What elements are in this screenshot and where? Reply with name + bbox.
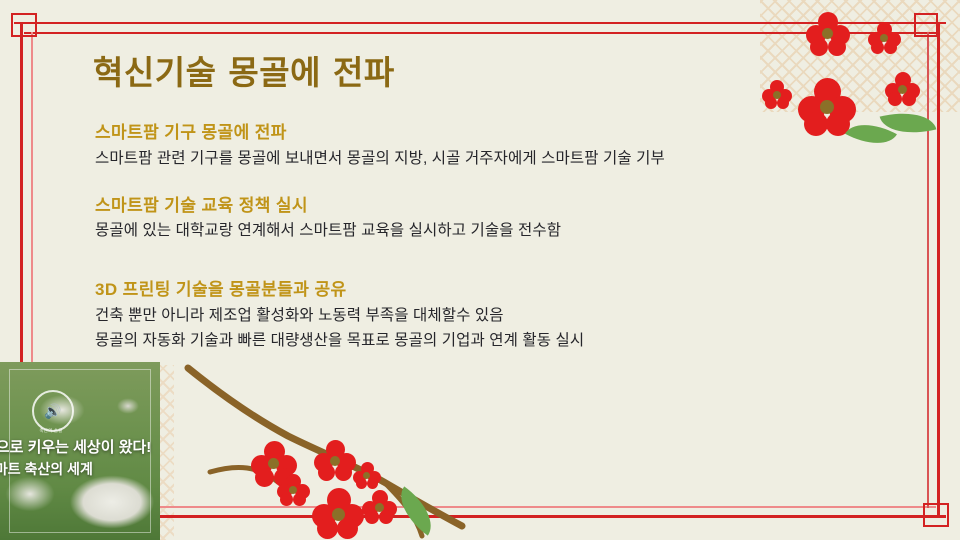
blossom-icon-b-3 <box>314 440 356 482</box>
video-thumbnail[interactable]: 🔊 축산의 손길 폰으로 키우는 세상이 왔다! 스마트 축산의 세계 <box>0 362 160 540</box>
lattice-pattern-top-right <box>760 0 960 112</box>
blossom-icon-b-5 <box>312 488 364 540</box>
channel-logo-icon: 🔊 <box>32 390 74 432</box>
frame-corner-square-top-left <box>11 13 37 37</box>
blossom-icon-b-6 <box>362 490 396 524</box>
section-3-heading: 3D 프린팅 기술을 몽골분들과 공유 <box>95 277 935 303</box>
page-title: 혁신기술 몽골에 전파 <box>93 46 395 94</box>
section-1-line-1: 스마트팜 관련 기구를 몽골에 보내면서 몽골의 지방, 시골 거주자에게 스마… <box>95 146 935 171</box>
branch-illustration <box>170 360 640 540</box>
frame-corner-square-bottom-right <box>923 503 949 527</box>
section-3-line-2: 몽골의 자동화 기술과 빠른 대량생산을 목표로 몽골의 기업과 연계 활동 실… <box>95 328 935 353</box>
blossom-icon-tr-5 <box>762 80 792 110</box>
frame-line-top-inner <box>24 32 936 34</box>
section-3: 3D 프린팅 기술을 몽골분들과 공유 건축 뿐만 아니라 제조업 활성화와 노… <box>95 277 935 353</box>
blossom-icon-b-1 <box>251 441 297 487</box>
section-2: 스마트팜 기술 교육 정책 실시 몽골에 있는 대학교랑 연계해서 스마트팜 교… <box>95 193 935 244</box>
blossom-icon-b-4 <box>353 462 381 490</box>
video-overlay-line-2: 스마트 축산의 세계 <box>0 459 93 479</box>
section-2-heading: 스마트팜 기술 교육 정책 실시 <box>95 193 935 219</box>
frame-line-bottom-inner <box>24 506 936 508</box>
blossom-icon-tr-1 <box>806 12 850 56</box>
blossom-icon-tr-3 <box>885 72 919 106</box>
slide-canvas: 혁신기술 몽골에 전파 스마트팜 기구 몽골에 전파 스마트팜 관련 기구를 몽… <box>0 0 960 540</box>
frame-line-right-outer <box>937 22 940 518</box>
section-3-line-1: 건축 뿐만 아니라 제조업 활성화와 노동력 부족을 대체할수 있음 <box>95 303 935 328</box>
content-body: 스마트팜 기구 몽골에 전파 스마트팜 관련 기구를 몽골에 보내면서 몽골의 … <box>95 120 935 359</box>
channel-logo-caption: 축산의 손길 <box>26 428 76 434</box>
leaf-icon-b-1 <box>389 486 443 535</box>
blossom-icon-tr-2 <box>868 22 900 54</box>
video-overlay-line-1: 폰으로 키우는 세상이 왔다! <box>0 436 151 457</box>
frame-corner-square-top-right <box>914 13 938 37</box>
section-1: 스마트팜 기구 몽골에 전파 스마트팜 관련 기구를 몽골에 보내면서 몽골의 … <box>95 120 935 171</box>
frame-line-top-outer <box>14 22 946 24</box>
channel-logo-glyph: 🔊 <box>44 404 61 418</box>
section-1-heading: 스마트팜 기구 몽골에 전파 <box>95 120 935 146</box>
blossom-icon-b-2 <box>277 474 309 506</box>
section-2-line-1: 몽골에 있는 대학교랑 연계해서 스마트팜 교육을 실시하고 기술을 전수함 <box>95 218 935 243</box>
